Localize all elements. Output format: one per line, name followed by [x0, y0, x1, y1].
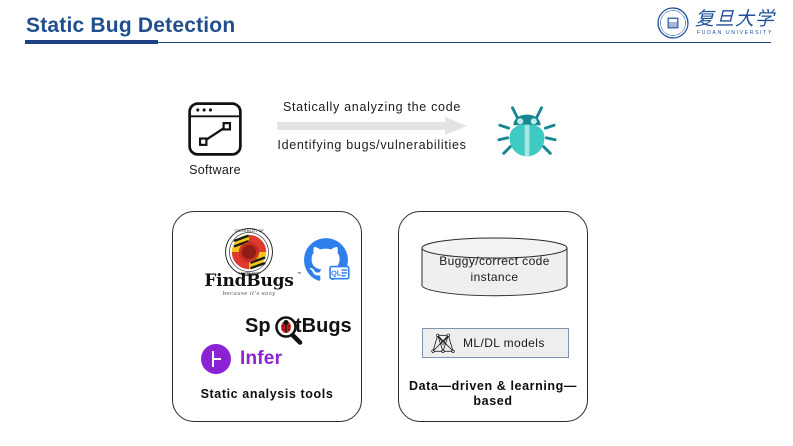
software-window-icon — [186, 100, 244, 158]
university-name-cn: 复旦大学 — [695, 10, 775, 30]
infer-mark-icon — [201, 344, 231, 374]
software-node: Software — [182, 100, 248, 177]
infer-logo: Infer — [201, 344, 282, 374]
flow-caption-bottom: Identifying bugs/vulnerabilities — [272, 138, 472, 152]
bug-icon — [496, 101, 558, 163]
flow-caption-top: Statically analyzing the code — [272, 100, 472, 114]
infer-wordmark: Infer — [240, 348, 282, 370]
findbugs-word-bugs: Bugs — [246, 271, 293, 291]
card-static-footer-label: Static analysis tools — [173, 387, 361, 403]
svg-text:tBugs: tBugs — [295, 315, 352, 337]
ml-models-label: ML/DL models — [463, 336, 545, 350]
process-flow-diagram: Software Statically analyzing the code I… — [0, 92, 793, 192]
svg-text:QL: QL — [331, 268, 342, 277]
findbugs-wordmark: FindBugs ™ — [204, 273, 293, 290]
university-seal-icon — [657, 7, 689, 39]
university-wordmark: 复旦大学 FUDAN UNIVERSITY — [695, 10, 775, 37]
card-learning-based: Buggy/correct code instance — [398, 211, 588, 422]
flow-captions: Statically analyzing the code Identifyin… — [272, 100, 472, 152]
codeql-logo: QL — [300, 234, 352, 286]
card-learning-footer-label: Data—driven & learning—based — [399, 379, 587, 410]
svg-text:Sp: Sp — [245, 315, 271, 337]
bug-node — [496, 101, 558, 163]
fudan-university-logo: 复旦大学 FUDAN UNIVERSITY — [657, 7, 775, 39]
svg-text:UNIVERSITY OF: UNIVERSITY OF — [234, 229, 264, 233]
maryland-seal-icon: UNIVERSITY OF MARYLAND — [224, 227, 274, 277]
slide-header: Static Bug Detection 复旦大学 FUDAN UNIVER — [0, 0, 793, 52]
neural-network-icon — [430, 332, 456, 354]
findbugs-tagline: because it's easy — [223, 291, 276, 297]
page-title: Static Bug Detection — [26, 14, 235, 38]
findbugs-word-find: Find — [204, 271, 246, 291]
title-rule-thick — [25, 40, 158, 44]
findbugs-logo: UNIVERSITY OF MARYLAND FindBugs ™ becaus… — [203, 227, 295, 297]
card-static-analysis-tools: UNIVERSITY OF MARYLAND FindBugs ™ becaus… — [172, 211, 362, 422]
university-name-en: FUDAN UNIVERSITY — [697, 30, 773, 36]
ml-models-box: ML/DL models — [422, 328, 569, 358]
software-label: Software — [189, 163, 241, 177]
database-label: Buggy/correct code instance — [421, 253, 568, 285]
right-arrow-icon — [277, 117, 467, 135]
spotbugs-logo: Sp tBugs — [245, 311, 355, 347]
